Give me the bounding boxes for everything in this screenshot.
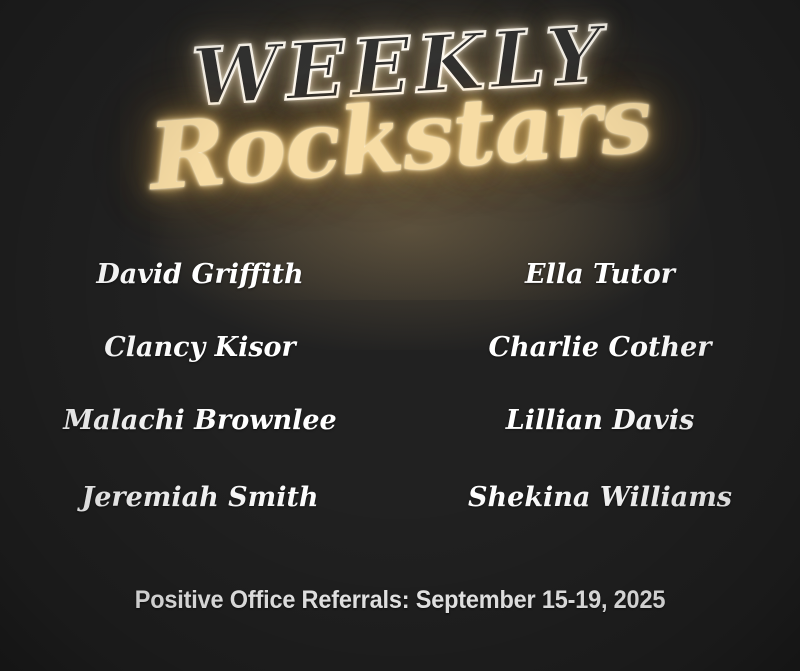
honoree-name: David Griffith	[0, 259, 400, 290]
honoree-list: David Griffith Ella Tutor Clancy Kisor C…	[0, 238, 800, 530]
honoree-name: Charlie Cother	[400, 332, 800, 363]
poster-title: WEEKLY Rockstars	[0, 0, 800, 232]
honoree-name: Malachi Brownlee	[0, 405, 400, 436]
honoree-name: Clancy Kisor	[0, 332, 400, 363]
honoree-name: Lillian Davis	[400, 405, 800, 436]
poster-caption: Positive Office Referrals: September 15-…	[24, 586, 776, 615]
honoree-name: Shekina Williams	[400, 482, 800, 513]
honoree-name: Jeremiah Smith	[0, 482, 400, 513]
honoree-name: Ella Tutor	[400, 259, 800, 290]
weekly-rockstars-poster: WEEKLY Rockstars David Griffith Ella Tut…	[0, 0, 800, 671]
